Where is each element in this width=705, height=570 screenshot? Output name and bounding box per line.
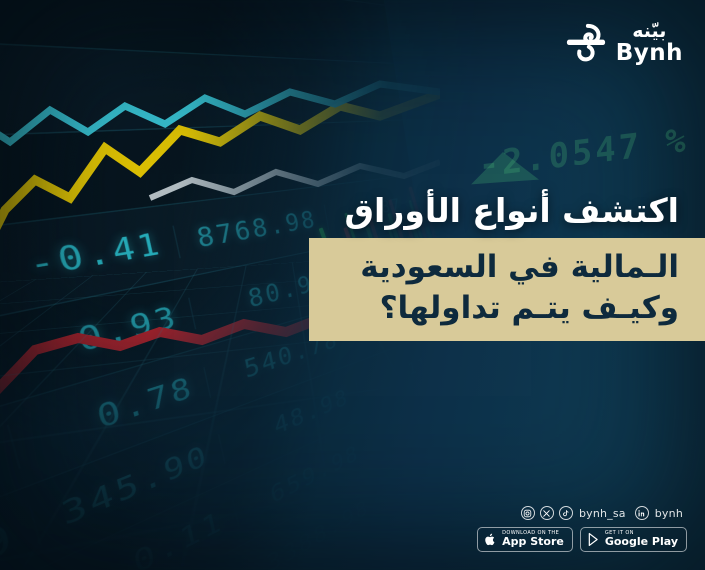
app-store-badge[interactable]: Download on the App Store xyxy=(477,527,573,552)
brand-name-latin: Bynh xyxy=(616,42,683,65)
tiktok-icon[interactable] xyxy=(559,506,573,520)
headline-line-2: الـمالية في السعودية xyxy=(321,247,679,289)
social-handle-primary: bynh_sa xyxy=(579,507,626,520)
linkedin-icon[interactable] xyxy=(635,506,649,520)
headline-line-1: اكتشف أنواع الأوراق xyxy=(331,192,683,231)
google-play-icon xyxy=(587,532,600,547)
headline-block: اكتشف أنواع الأوراق الـمالية في السعودية… xyxy=(331,192,683,341)
google-play-badge[interactable]: GET IT ON Google Play xyxy=(580,527,687,552)
headline-highlight-box: الـمالية في السعودية وكيـف يتـم تداولها؟ xyxy=(309,238,705,341)
x-twitter-icon[interactable] xyxy=(540,506,554,520)
app-store-name: App Store xyxy=(502,536,564,548)
social-post-card: 1305.320.55399-1.90854578978-0.010.00-10… xyxy=(0,0,705,570)
social-row: bynh_sa bynh xyxy=(521,506,687,520)
headline-line-3: وكيـف يتـم تداولها؟ xyxy=(321,288,679,330)
bynh-swirl-mark-icon xyxy=(565,20,607,66)
brand-name-arabic: بيّنه xyxy=(632,22,666,41)
store-badges: Download on the App Store GET IT ON Goog… xyxy=(477,527,687,552)
google-play-name: Google Play xyxy=(605,536,678,548)
footer: bynh_sa bynh Download on the App Store xyxy=(477,506,687,552)
social-handle-linkedin: bynh xyxy=(655,507,683,520)
instagram-icon[interactable] xyxy=(521,506,535,520)
brand-logo: بيّنه Bynh xyxy=(565,20,683,66)
apple-icon xyxy=(484,532,497,547)
